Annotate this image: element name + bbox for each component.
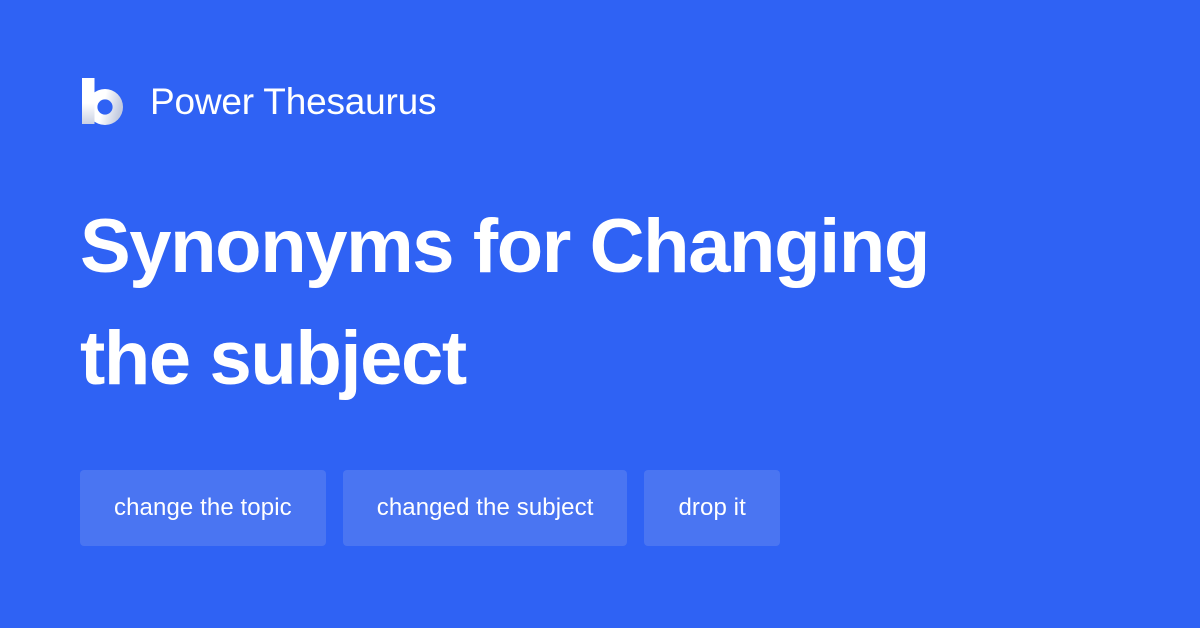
synonym-chip-list: change the topic changed the subject dro… [80,470,780,546]
synonym-chip[interactable]: drop it [644,470,779,546]
power-thesaurus-b-logo-icon [80,76,124,126]
synonym-chip[interactable]: change the topic [80,470,326,546]
synonym-chip[interactable]: changed the subject [343,470,628,546]
page-title-line-1: Synonyms for Changing [80,204,929,289]
page-title: Synonyms for Changing the subject [80,191,1080,415]
brand-name: power thesaurus [150,83,436,120]
share-card: power thesaurus Synonyms for Changing th… [0,0,1200,628]
page-title-line-2: the subject [80,316,466,401]
brand-header[interactable]: power thesaurus [80,70,436,132]
